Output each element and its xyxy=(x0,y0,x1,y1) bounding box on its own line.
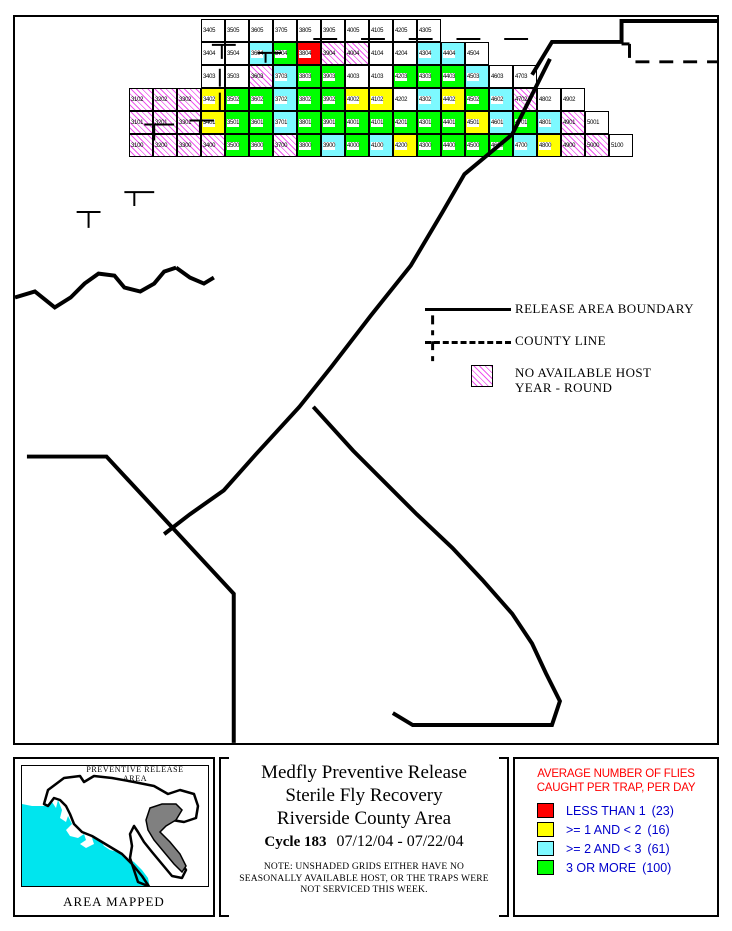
map-note: NOTE: UNSHADED GRIDS EITHER HAVE NO SEAS… xyxy=(231,862,497,897)
grid-cell-label: 4503 xyxy=(467,73,479,81)
grid-cell-label: 3705 xyxy=(275,27,287,35)
legend-release-boundary: RELEASE AREA BOUNDARY xyxy=(425,299,715,321)
grid-cell: 3702 xyxy=(273,88,297,111)
grid-cell-label: 3200 xyxy=(155,142,167,150)
grid-cell-label: 3703 xyxy=(275,73,287,81)
grid-cell-label: 4502 xyxy=(467,96,479,104)
grid-cell: 4304 xyxy=(417,42,441,65)
grid-cell: 4105 xyxy=(369,19,393,42)
grid-cell-label: 3403 xyxy=(203,73,215,81)
grid-cell: 3600 xyxy=(249,134,273,157)
inset-title: PREVENTIVE RELEASE AREA xyxy=(73,765,197,783)
grid-cell-label: 4403 xyxy=(443,73,455,81)
grid-cell: 4700 xyxy=(513,134,537,157)
grid-cell-label: 3603 xyxy=(251,73,263,81)
grid-cell-label: 3201 xyxy=(155,119,167,127)
grid-cell-label: 3901 xyxy=(323,119,335,127)
grid-cell-label: 4701 xyxy=(515,119,527,127)
grid-cell-label: 4300 xyxy=(419,142,431,150)
grid-cell: 4600 xyxy=(489,134,513,157)
grid-cell-label: 3604 xyxy=(251,50,263,58)
grid-cell: 4204 xyxy=(393,42,417,65)
grid-cell: 4203 xyxy=(393,65,417,88)
grid-cell-label: 4103 xyxy=(371,73,383,81)
legend-item: 3 OR MORE(100) xyxy=(537,860,717,875)
grid-cell: 4500 xyxy=(465,134,489,157)
legend-item-label: LESS THAN 1 xyxy=(566,804,646,818)
grid-cell: 3100 xyxy=(129,134,153,157)
grid-cell-label: 4801 xyxy=(539,119,551,127)
grid-cell: 3801 xyxy=(297,111,321,134)
grid-cell: 3502 xyxy=(225,88,249,111)
grid-cell: 5001 xyxy=(585,111,609,134)
inset-caption: AREA MAPPED xyxy=(15,894,213,910)
title-cycle-row: Cycle 18307/12/04 - 07/22/04 xyxy=(231,832,497,852)
grid-cell: 4802 xyxy=(537,88,561,111)
grid-cell-label: 4504 xyxy=(467,50,479,58)
grid-cell-label: 3301 xyxy=(179,119,191,127)
grid-cell: 3503 xyxy=(225,65,249,88)
grid-cell: 4900 xyxy=(561,134,585,157)
grid-cell-label: 4500 xyxy=(467,142,479,150)
legend-no-host: NO AVAILABLE HOST YEAR - ROUND xyxy=(425,363,715,395)
grid-cell: 4404 xyxy=(441,42,465,65)
grid-cell-label: 4104 xyxy=(371,50,383,58)
grid-cell: 3402 xyxy=(201,88,225,111)
grid-cell-label: 3202 xyxy=(155,96,167,104)
grid-cell: 3904 xyxy=(321,42,345,65)
grid-cell-label: 4600 xyxy=(491,142,503,150)
grid-cell-label: 4100 xyxy=(371,142,383,150)
grid-cell-label: 4000 xyxy=(347,142,359,150)
grid-cell: 3604 xyxy=(249,42,273,65)
grid-cell: 4703 xyxy=(513,65,537,88)
grid-cell: 3705 xyxy=(273,19,297,42)
grid-cell: 3700 xyxy=(273,134,297,157)
grid-cell-label: 3702 xyxy=(275,96,287,104)
grid-cell-label: 4800 xyxy=(539,142,551,150)
grid-cell-label: 3401 xyxy=(203,119,215,127)
grid-cell: 3603 xyxy=(249,65,273,88)
grid-cell-label: 4002 xyxy=(347,96,359,104)
grid-cell: 4400 xyxy=(441,134,465,157)
title-line-3: Riverside County Area xyxy=(231,807,497,830)
inset-title-line1: PREVENTIVE RELEASE xyxy=(86,765,183,774)
grid-cell-label: 4005 xyxy=(347,27,359,35)
grid-cell-label: 3900 xyxy=(323,142,335,150)
grid-cell-label: 3601 xyxy=(251,119,263,127)
grid-cell-label: 3602 xyxy=(251,96,263,104)
title-panel: Medfly Preventive Release Sterile Fly Re… xyxy=(219,757,509,917)
legend-county-line-label: COUNTY LINE xyxy=(515,331,606,348)
grid-cell: 4101 xyxy=(369,111,393,134)
grid-cell: 4501 xyxy=(465,111,489,134)
grid-cell-label: 3903 xyxy=(323,73,335,81)
legend-item: >= 1 AND < 2(16) xyxy=(537,822,717,837)
grid-cell: 3200 xyxy=(153,134,177,157)
grid-cell-label: 4301 xyxy=(419,119,431,127)
grid-cell-label: 4902 xyxy=(563,96,575,104)
grid-cell-label: 3502 xyxy=(227,96,239,104)
grid-cell: 4200 xyxy=(393,134,417,157)
legend-header: AVERAGE NUMBER OF FLIES CAUGHT PER TRAP,… xyxy=(519,767,713,795)
grid-cell-label: 4900 xyxy=(563,142,575,150)
grid-cell-label: 3905 xyxy=(323,27,335,35)
grid-cell: 4104 xyxy=(369,42,393,65)
bracket-left xyxy=(219,757,229,917)
grid-cell: 5100 xyxy=(609,134,633,157)
grid-cell-label: 3800 xyxy=(299,142,311,150)
grid-cell-label: 4802 xyxy=(539,96,551,104)
grid-cell-label: 5001 xyxy=(587,119,599,127)
grid-cell: 3802 xyxy=(297,88,321,111)
grid-cell-label: 4501 xyxy=(467,119,479,127)
grid-cell: 3302 xyxy=(177,88,201,111)
grid-cell-label: 5100 xyxy=(611,142,623,150)
grid-cell-label: 3501 xyxy=(227,119,239,127)
legend-items: LESS THAN 1(23)>= 1 AND < 2(16)>= 2 AND … xyxy=(537,803,717,875)
grid-cell: 3800 xyxy=(297,134,321,157)
grid-cell-label: 4401 xyxy=(443,119,455,127)
grid-cell: 3505 xyxy=(225,19,249,42)
grid-cell-label: 4004 xyxy=(347,50,359,58)
grid-cell: 4305 xyxy=(417,19,441,42)
legend-release-boundary-label: RELEASE AREA BOUNDARY xyxy=(515,299,694,316)
grid-cell: 4302 xyxy=(417,88,441,111)
grid-cell: 4303 xyxy=(417,65,441,88)
grid-cell: 3201 xyxy=(153,111,177,134)
grid-cell-label: 4305 xyxy=(419,27,431,35)
grid-cell: 3405 xyxy=(201,19,225,42)
grid-cell-label: 3704 xyxy=(275,50,287,58)
grid-cell-label: 4001 xyxy=(347,119,359,127)
grid-cell: 3602 xyxy=(249,88,273,111)
grid-cell-label: 4702 xyxy=(515,96,527,104)
title-line-1: Medfly Preventive Release xyxy=(231,761,497,784)
legend-item-count: (100) xyxy=(642,861,671,875)
legend-color-swatch xyxy=(537,841,554,856)
grid-cell: 4601 xyxy=(489,111,513,134)
legend-color-swatch xyxy=(537,860,554,875)
grid-cell-label: 3100 xyxy=(131,142,143,150)
grid-cell-label: 4400 xyxy=(443,142,455,150)
grid-cell-label: 3404 xyxy=(203,50,215,58)
grid-cell: 4402 xyxy=(441,88,465,111)
grid-cell: 4702 xyxy=(513,88,537,111)
grid-cell: 3400 xyxy=(201,134,225,157)
grid-cell-label: 4304 xyxy=(419,50,431,58)
grid-cell: 4603 xyxy=(489,65,513,88)
fly-count-legend-panel: AVERAGE NUMBER OF FLIES CAUGHT PER TRAP,… xyxy=(513,757,719,917)
grid-cell: 4602 xyxy=(489,88,513,111)
main-map-frame: 3405350536053705380539054005410542054305… xyxy=(13,15,719,745)
grid-cell-label: 4302 xyxy=(419,96,431,104)
grid-cell: 4205 xyxy=(393,19,417,42)
grid-cell-label: 4205 xyxy=(395,27,407,35)
page-root: 3405350536053705380539054005410542054305… xyxy=(0,0,732,931)
grid-cell: 4102 xyxy=(369,88,393,111)
grid-cell: 3300 xyxy=(177,134,201,157)
solid-line-icon xyxy=(425,299,515,321)
grid-cell-label: 3600 xyxy=(251,142,263,150)
grid-cell-label: 3405 xyxy=(203,27,215,35)
grid-cell-label: 4105 xyxy=(371,27,383,35)
grid-cell-label: 4602 xyxy=(491,96,503,104)
legend-item: >= 2 AND < 3(61) xyxy=(537,841,717,856)
grid-cell-label: 3605 xyxy=(251,27,263,35)
grid-cell: 3301 xyxy=(177,111,201,134)
grid-cell-label: 4101 xyxy=(371,119,383,127)
legend-item-label: >= 1 AND < 2 xyxy=(566,823,641,837)
grid-cell: 4103 xyxy=(369,65,393,88)
grid-cell-label: 4203 xyxy=(395,73,407,81)
grid-cell: 4004 xyxy=(345,42,369,65)
grid-cell-label: 4202 xyxy=(395,96,407,104)
grid-cell: 4502 xyxy=(465,88,489,111)
grid-cell-label: 3500 xyxy=(227,142,239,150)
grid-cell-label: 3400 xyxy=(203,142,215,150)
title-line-2: Sterile Fly Recovery xyxy=(231,784,497,807)
grid-cell: 3701 xyxy=(273,111,297,134)
grid-cell: 4005 xyxy=(345,19,369,42)
legend-item: LESS THAN 1(23) xyxy=(537,803,717,818)
hatch-swatch-icon xyxy=(425,363,515,385)
grid-cell-label: 4601 xyxy=(491,119,503,127)
grid-cell-label: 3701 xyxy=(275,119,287,127)
grid-cell: 4003 xyxy=(345,65,369,88)
grid-cell-label: 4204 xyxy=(395,50,407,58)
legend-no-host-label: NO AVAILABLE HOST YEAR - ROUND xyxy=(515,363,651,395)
bracket-right xyxy=(499,757,509,917)
grid-cell-label: 3102 xyxy=(131,96,143,104)
grid-cell: 3901 xyxy=(321,111,345,134)
date-range: 07/12/04 - 07/22/04 xyxy=(336,833,463,850)
grid-cell-label: 3302 xyxy=(179,96,191,104)
grid-cell: 3805 xyxy=(297,19,321,42)
grid-cell-label: 4303 xyxy=(419,73,431,81)
map-legend: RELEASE AREA BOUNDARY COUNTY LINE NO AVA… xyxy=(425,299,715,405)
grid-cell-label: 3902 xyxy=(323,96,335,104)
cycle-label: Cycle 183 xyxy=(264,834,326,850)
grid-cell-label: 4703 xyxy=(515,73,527,81)
legend-item-count: (16) xyxy=(647,823,669,837)
grid-cell: 4000 xyxy=(345,134,369,157)
legend-item-count: (61) xyxy=(647,842,669,856)
grid-cell: 3902 xyxy=(321,88,345,111)
legend-header-line2: CAUGHT PER TRAP, PER DAY xyxy=(537,782,696,794)
grid-cell-label: 4404 xyxy=(443,50,455,58)
grid-cell: 4902 xyxy=(561,88,585,111)
grid-cell-label: 3101 xyxy=(131,119,143,127)
dashed-line-icon xyxy=(425,331,515,353)
grid-cell: 3401 xyxy=(201,111,225,134)
grid-cell: 3804 xyxy=(297,42,321,65)
grid-cell-label: 3300 xyxy=(179,142,191,150)
inset-map xyxy=(21,765,209,887)
grid-cell: 3605 xyxy=(249,19,273,42)
grid-cell: 3504 xyxy=(225,42,249,65)
grid-cell-label: 3402 xyxy=(203,96,215,104)
grid-cell: 4504 xyxy=(465,42,489,65)
grid-cell: 4202 xyxy=(393,88,417,111)
grid-cell: 3803 xyxy=(297,65,321,88)
grid-cell: 3404 xyxy=(201,42,225,65)
grid-cell-label: 5000 xyxy=(587,142,599,150)
grid-cell: 4002 xyxy=(345,88,369,111)
legend-no-host-line2: YEAR - ROUND xyxy=(515,380,612,395)
grid-cell: 3501 xyxy=(225,111,249,134)
grid-cell: 4901 xyxy=(561,111,585,134)
grid-cell: 3704 xyxy=(273,42,297,65)
inset-map-svg xyxy=(22,766,209,887)
legend-color-swatch xyxy=(537,803,554,818)
grid-cell-label: 3805 xyxy=(299,27,311,35)
grid-cell: 3202 xyxy=(153,88,177,111)
grid-cell: 3403 xyxy=(201,65,225,88)
grid-cell: 4800 xyxy=(537,134,561,157)
legend-item-label: >= 2 AND < 3 xyxy=(566,842,641,856)
grid-cell-label: 4603 xyxy=(491,73,503,81)
grid-cell: 4201 xyxy=(393,111,417,134)
grid-cell: 3500 xyxy=(225,134,249,157)
grid-cell-label: 4201 xyxy=(395,119,407,127)
grid-cell: 4701 xyxy=(513,111,537,134)
grid-cell: 4100 xyxy=(369,134,393,157)
grid-cell: 4301 xyxy=(417,111,441,134)
grid-cell-label: 3700 xyxy=(275,142,287,150)
grid-cell-label: 3503 xyxy=(227,73,239,81)
inset-panel: PREVENTIVE RELEASE AREA AREA MAPPED xyxy=(13,757,215,917)
grid-cell-label: 3505 xyxy=(227,27,239,35)
grid-cell-label: 4700 xyxy=(515,142,527,150)
grid-cell-label: 3803 xyxy=(299,73,311,81)
legend-color-swatch xyxy=(537,822,554,837)
grid-cell: 3101 xyxy=(129,111,153,134)
grid-cell: 3102 xyxy=(129,88,153,111)
grid-cell: 3601 xyxy=(249,111,273,134)
grid-cell-label: 4901 xyxy=(563,119,575,127)
grid-cell-label: 3904 xyxy=(323,50,335,58)
legend-item-label: 3 OR MORE xyxy=(566,861,636,875)
grid-cell: 5000 xyxy=(585,134,609,157)
grid-cell: 3900 xyxy=(321,134,345,157)
grid-cell: 4001 xyxy=(345,111,369,134)
grid-cell-label: 4200 xyxy=(395,142,407,150)
legend-no-host-line1: NO AVAILABLE HOST xyxy=(515,365,651,380)
grid-cell: 3905 xyxy=(321,19,345,42)
legend-county-line: COUNTY LINE xyxy=(425,331,715,353)
grid-cell: 3703 xyxy=(273,65,297,88)
grid-cell-label: 3801 xyxy=(299,119,311,127)
grid-cell: 4403 xyxy=(441,65,465,88)
grid-cell: 4401 xyxy=(441,111,465,134)
grid-cell-label: 3802 xyxy=(299,96,311,104)
grid-cell: 4300 xyxy=(417,134,441,157)
grid-cell-label: 3504 xyxy=(227,50,239,58)
grid-cell-label: 4102 xyxy=(371,96,383,104)
grid-cell: 3903 xyxy=(321,65,345,88)
legend-item-count: (23) xyxy=(652,804,674,818)
legend-header-line1: AVERAGE NUMBER OF FLIES xyxy=(537,768,695,780)
grid-cell-label: 4003 xyxy=(347,73,359,81)
grid-cell-label: 3804 xyxy=(299,50,311,58)
inset-title-line2: AREA xyxy=(123,774,147,783)
grid-cell-label: 4402 xyxy=(443,96,455,104)
grid-cell: 4801 xyxy=(537,111,561,134)
grid-cell: 4503 xyxy=(465,65,489,88)
